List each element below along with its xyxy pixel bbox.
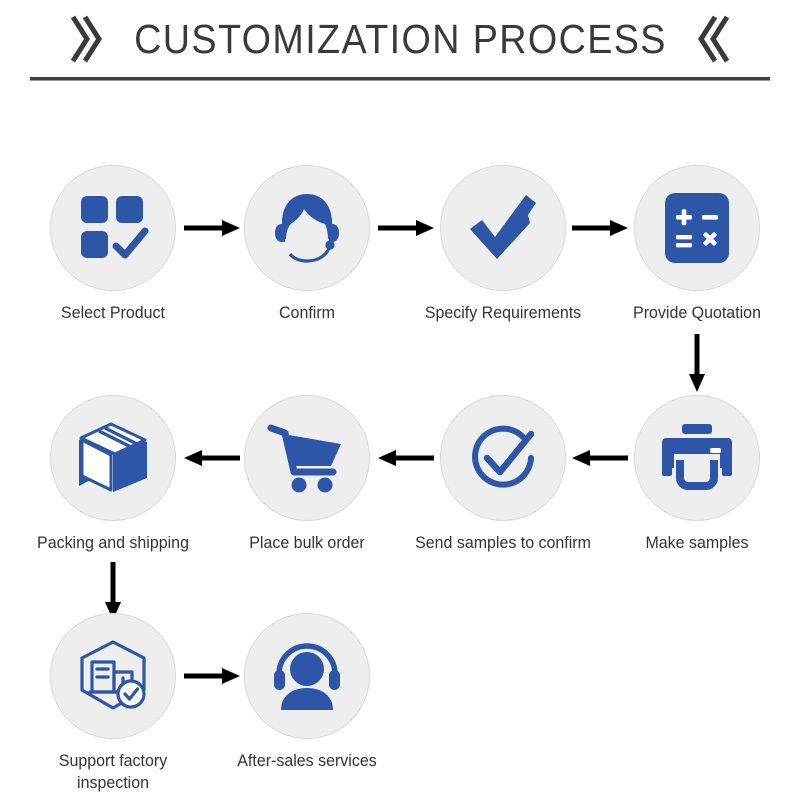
double-chevron-left-icon <box>697 15 731 63</box>
connector-arrow-down <box>687 334 707 392</box>
step-icon-circle <box>440 395 566 521</box>
step-confirm[interactable]: Confirm <box>212 165 402 324</box>
step-send-samples-to-confirm[interactable]: Send samples to confirm <box>408 395 598 554</box>
grid-check-icon <box>76 191 150 265</box>
step-place-bulk-order[interactable]: Place bulk order <box>212 395 402 554</box>
step-packing-and-shipping[interactable]: Packing and shipping <box>18 395 208 554</box>
step-icon-circle <box>50 613 176 739</box>
connector-arrow-down <box>103 562 123 620</box>
step-select-product[interactable]: Select Product <box>18 165 208 324</box>
step-label: Select Product <box>24 302 203 324</box>
step-after-sales-services[interactable]: After-sales services <box>212 613 402 772</box>
step-icon-circle <box>244 613 370 739</box>
step-label: Place bulk order <box>218 532 397 554</box>
step-icon-circle <box>244 165 370 291</box>
title-divider <box>30 77 770 81</box>
double-chevron-right-icon <box>69 15 103 63</box>
step-support-factory-inspection[interactable]: Support factory inspection <box>18 613 208 794</box>
step-icon-circle <box>634 395 760 521</box>
step-make-samples[interactable]: Make samples <box>602 395 792 554</box>
printer-icon <box>658 422 736 494</box>
step-label: Packing and shipping <box>24 532 203 554</box>
page-title: CUSTOMIZATION PROCESS <box>134 15 667 63</box>
factory-inspection-badge-icon <box>74 638 152 714</box>
step-icon-circle <box>634 165 760 291</box>
step-label: Specify Requirements <box>414 302 593 324</box>
step-label: Make samples <box>608 532 787 554</box>
step-icon-circle <box>244 395 370 521</box>
step-label: Confirm <box>218 302 397 324</box>
step-icon-circle <box>440 165 566 291</box>
calculator-icon <box>662 190 732 266</box>
package-box-icon <box>73 420 153 496</box>
step-label: Send samples to confirm <box>414 532 593 554</box>
title-row: CUSTOMIZATION PROCESS <box>0 8 800 70</box>
step-icon-circle <box>50 165 176 291</box>
step-label: Provide Quotation <box>608 302 787 324</box>
checkmark-icon <box>464 189 542 267</box>
headphones-agent-icon <box>269 640 345 712</box>
step-label: Support factory inspection <box>24 750 203 794</box>
support-agent-headset-icon <box>269 190 345 266</box>
page-header: CUSTOMIZATION PROCESS <box>0 0 800 96</box>
step-provide-quotation[interactable]: Provide Quotation <box>602 165 792 324</box>
shopping-cart-icon <box>267 422 347 494</box>
step-specify-requirements[interactable]: Specify Requirements <box>408 165 598 324</box>
circle-check-icon <box>465 420 541 496</box>
step-icon-circle <box>50 395 176 521</box>
step-label: After-sales services <box>218 750 397 772</box>
